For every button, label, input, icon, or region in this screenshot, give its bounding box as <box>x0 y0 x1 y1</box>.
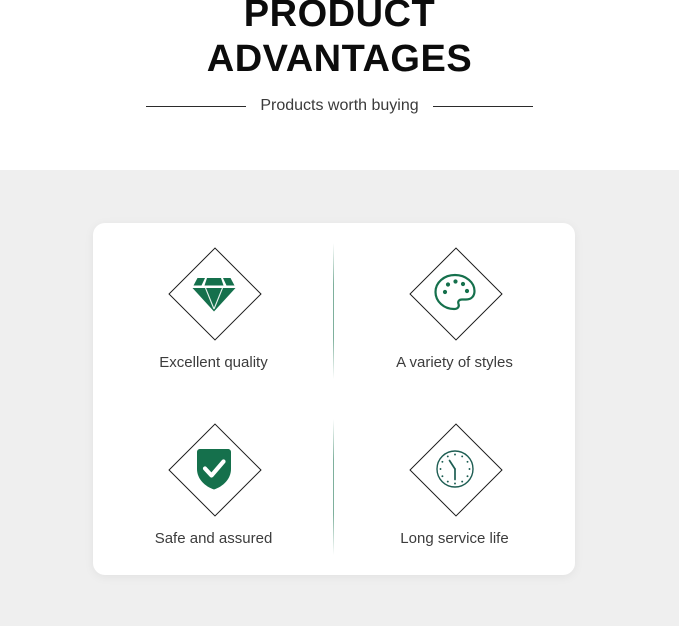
feature-label: A variety of styles <box>396 353 513 373</box>
subtitle-rule-left <box>146 106 246 107</box>
clock-icon <box>431 445 479 493</box>
feature-label: Long service life <box>400 529 508 549</box>
diamond-gem-icon <box>190 269 238 317</box>
subtitle-rule-right <box>433 106 533 107</box>
feature-label: Excellent quality <box>159 353 267 373</box>
subtitle-row: Products worth buying <box>0 96 679 116</box>
feature-cell-excellent-quality[interactable]: Excellent quality <box>93 223 334 399</box>
diamond-frame <box>170 425 258 513</box>
page-title-line-1: PRODUCT <box>0 0 679 37</box>
diamond-frame <box>411 425 499 513</box>
features-grid: Excellent quality A variety of styles <box>93 223 575 575</box>
diamond-frame <box>411 249 499 337</box>
shield-check-icon <box>190 445 238 493</box>
header-band: PRODUCT ADVANTAGES Products worth buying <box>0 0 679 170</box>
paint-palette-icon <box>431 269 479 317</box>
feature-cell-variety-of-styles[interactable]: A variety of styles <box>334 223 575 399</box>
subtitle-text: Products worth buying <box>260 96 418 116</box>
feature-cell-safe-and-assured[interactable]: Safe and assured <box>93 399 334 575</box>
diamond-frame <box>170 249 258 337</box>
features-card: Excellent quality A variety of styles <box>93 223 575 575</box>
page-title: PRODUCT ADVANTAGES <box>0 0 679 82</box>
feature-label: Safe and assured <box>155 529 273 549</box>
page-title-line-2: ADVANTAGES <box>0 37 679 82</box>
feature-cell-long-service-life[interactable]: Long service life <box>334 399 575 575</box>
